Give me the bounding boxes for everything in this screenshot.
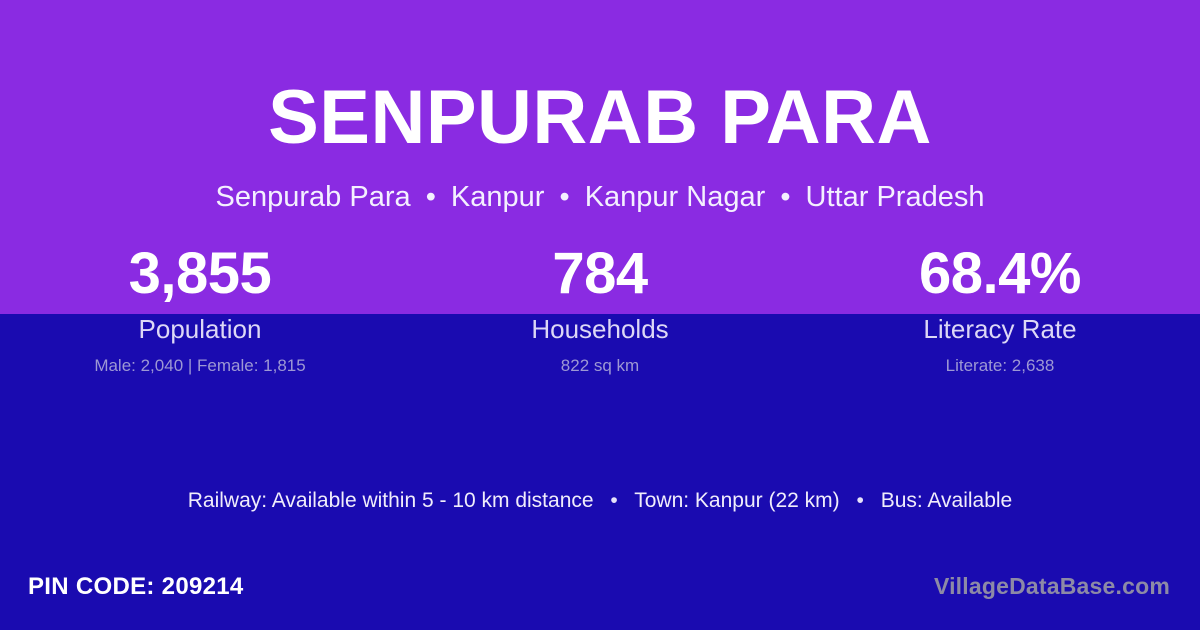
amenity-separator-icon: • (846, 489, 875, 512)
amenity-railway: Railway: Available within 5 - 10 km dist… (188, 489, 594, 512)
breadcrumb-item-village: Senpurab Para (216, 181, 411, 213)
card-content: SENPURAB PARA Senpurab Para • Kanpur • K… (0, 0, 1200, 630)
stat-sub-population: Male: 2,040 | Female: 1,815 (94, 356, 305, 376)
stat-label-literacy: Literacy Rate (923, 314, 1076, 345)
amenity-bus: Bus: Available (881, 489, 1013, 512)
breadcrumb-separator-icon: • (552, 181, 576, 213)
stat-literacy: 68.4% Literacy Rate Literate: 2,638 (800, 243, 1200, 377)
stat-value-literacy: 68.4% (919, 243, 1081, 311)
stat-sub-households: 822 sq km (561, 356, 639, 376)
title-block: SENPURAB PARA (0, 80, 1200, 156)
stat-population: 3,855 Population Male: 2,040 | Female: 1… (0, 243, 400, 377)
amenities-row: Railway: Available within 5 - 10 km dist… (0, 487, 1200, 514)
breadcrumb: Senpurab Para • Kanpur • Kanpur Nagar • … (0, 180, 1200, 215)
breadcrumb-item-state: Uttar Pradesh (806, 181, 985, 213)
stat-label-population: Population (139, 314, 262, 345)
page-title: SENPURAB PARA (0, 80, 1200, 156)
village-info-card: SENPURAB PARA Senpurab Para • Kanpur • K… (0, 0, 1200, 630)
stats-row: 3,855 Population Male: 2,040 | Female: 1… (0, 243, 1200, 377)
stat-sub-literacy: Literate: 2,638 (946, 356, 1055, 376)
breadcrumb-item-block: Kanpur (451, 181, 545, 213)
breadcrumb-separator-icon: • (773, 181, 797, 213)
stat-value-population: 3,855 (129, 243, 272, 311)
card-footer: PIN CODE: 209214 VillageDataBase.com (0, 558, 1200, 630)
breadcrumb-separator-icon: • (419, 181, 443, 213)
amenity-town: Town: Kanpur (22 km) (634, 489, 839, 512)
pin-code: PIN CODE: 209214 (28, 573, 244, 602)
stat-value-households: 784 (552, 243, 647, 311)
breadcrumb-item-district: Kanpur Nagar (585, 181, 766, 213)
stat-households: 784 Households 822 sq km (400, 243, 800, 377)
amenity-separator-icon: • (599, 489, 628, 512)
brand-watermark: VillageDataBase.com (934, 573, 1170, 601)
stat-label-households: Households (531, 314, 668, 345)
